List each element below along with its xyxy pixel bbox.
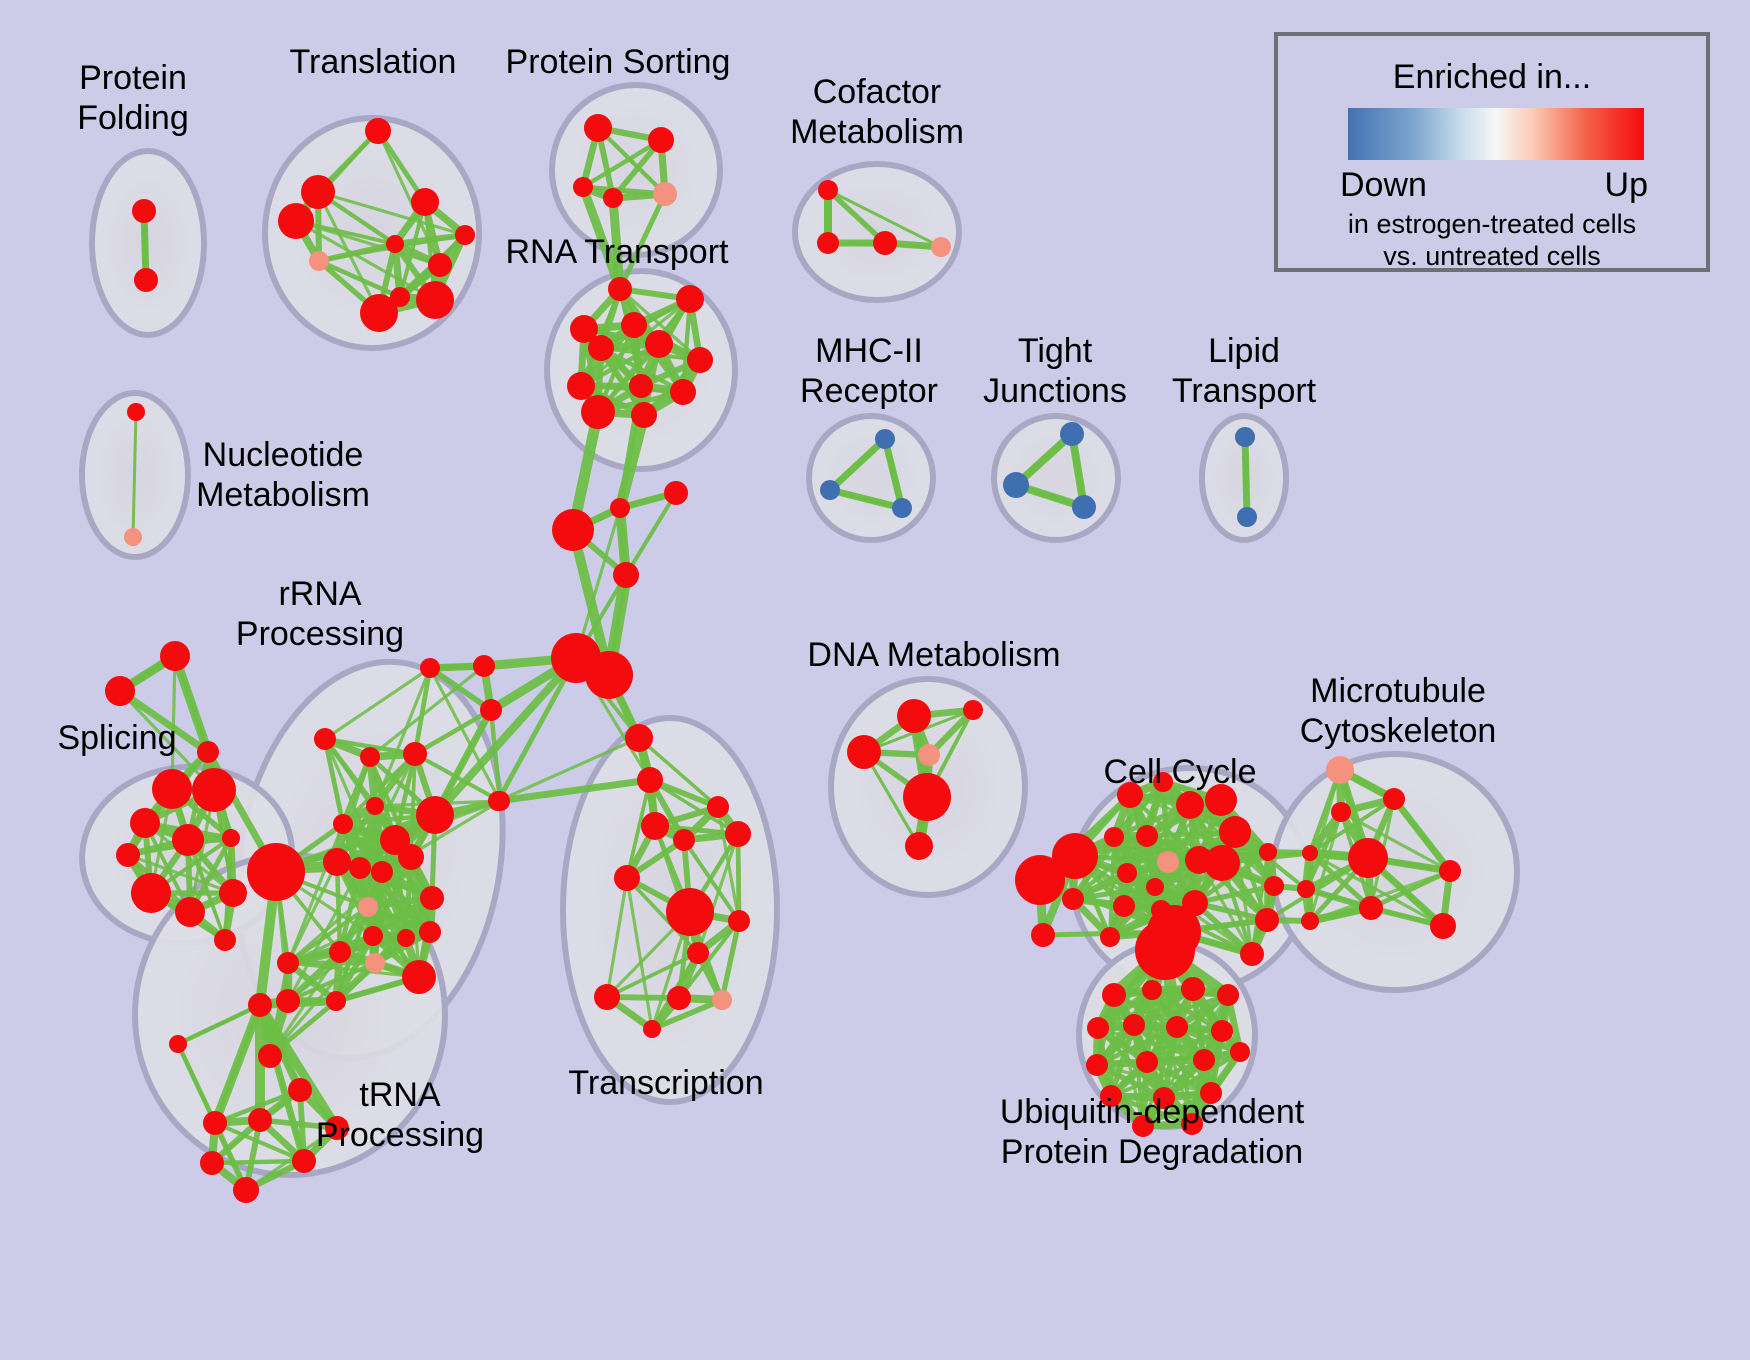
network-node: [248, 1108, 272, 1132]
network-node: [1301, 912, 1319, 930]
network-node: [131, 873, 171, 913]
network-node: [132, 199, 156, 223]
network-node: [931, 237, 951, 257]
network-node: [152, 769, 192, 809]
network-node: [365, 953, 385, 973]
network-node: [1157, 851, 1179, 873]
network-node: [276, 989, 300, 1013]
network-node: [219, 879, 247, 907]
network-node: [214, 929, 236, 951]
network-node: [1235, 427, 1255, 447]
network-node: [1135, 920, 1195, 980]
network-node: [1117, 863, 1137, 883]
network-node: [653, 182, 677, 206]
network-node: [329, 941, 351, 963]
network-node: [817, 232, 839, 254]
network-node: [687, 347, 713, 373]
network-node: [1217, 984, 1239, 1006]
network-node: [1117, 782, 1143, 808]
network-node: [818, 180, 838, 200]
network-node: [581, 395, 615, 429]
network-node: [420, 886, 444, 910]
network-node: [1153, 772, 1173, 792]
network-edge: [738, 834, 739, 921]
network-node: [160, 641, 190, 671]
network-node: [1086, 1054, 1108, 1076]
network-node: [1102, 983, 1126, 1007]
network-node: [648, 127, 674, 153]
network-node: [1230, 1042, 1250, 1062]
network-node: [192, 768, 236, 812]
legend-high-label: Up: [1605, 166, 1648, 205]
network-node: [314, 728, 336, 750]
network-node: [200, 1151, 224, 1175]
network-node: [277, 952, 299, 974]
network-node: [278, 203, 314, 239]
network-node: [124, 528, 142, 546]
network-node: [567, 372, 595, 400]
pathway-network-figure: ProteinFoldingTranslationProtein Sorting…: [0, 0, 1750, 1360]
network-node: [892, 498, 912, 518]
network-node: [1193, 1049, 1215, 1071]
network-node: [1003, 472, 1029, 498]
legend-low-label: Down: [1340, 166, 1427, 205]
network-node: [1211, 1020, 1233, 1042]
network-node: [585, 651, 633, 699]
network-node: [386, 235, 404, 253]
network-node: [645, 330, 673, 358]
network-node: [105, 676, 135, 706]
network-node: [420, 658, 440, 678]
network-node: [608, 277, 632, 301]
network-node: [1072, 495, 1096, 519]
network-node: [1176, 791, 1204, 819]
network-node: [897, 699, 931, 733]
network-node: [614, 865, 640, 891]
network-node: [1430, 913, 1456, 939]
network-node: [1113, 895, 1135, 917]
network-node: [625, 724, 653, 752]
network-node: [1136, 825, 1158, 847]
network-node: [326, 991, 346, 1011]
network-node: [288, 1078, 312, 1102]
network-node: [1123, 1014, 1145, 1036]
network-node: [1100, 1085, 1122, 1107]
network-node: [1142, 980, 1162, 1000]
network-node: [687, 942, 709, 964]
network-node: [247, 843, 305, 901]
network-node: [455, 225, 475, 245]
network-node: [1219, 816, 1251, 848]
network-node: [258, 1044, 282, 1068]
network-node: [1302, 845, 1318, 861]
network-node: [1205, 784, 1237, 816]
network-node: [588, 335, 614, 361]
network-node: [416, 281, 454, 319]
network-node: [1297, 880, 1315, 898]
network-node: [666, 888, 714, 936]
network-node: [1200, 1082, 1222, 1104]
network-node: [573, 177, 593, 197]
network-node: [1264, 876, 1284, 896]
network-node: [1031, 923, 1055, 947]
network-node: [222, 829, 240, 847]
network-node: [552, 509, 594, 551]
network-node: [673, 829, 695, 851]
network-node: [903, 773, 951, 821]
network-node: [428, 253, 452, 277]
legend-colorbar: [1348, 108, 1644, 160]
network-node: [248, 993, 272, 1017]
network-node: [360, 294, 398, 332]
network-node: [130, 808, 160, 838]
network-node: [1062, 888, 1084, 910]
network-node: [1100, 927, 1120, 947]
network-node: [1166, 1016, 1188, 1038]
network-node: [134, 268, 158, 292]
network-node: [333, 814, 353, 834]
network-node: [820, 480, 840, 500]
network-node: [360, 747, 380, 767]
network-node: [712, 990, 732, 1010]
network-node: [402, 960, 436, 994]
network-node: [233, 1177, 259, 1203]
network-node: [371, 861, 393, 883]
network-node: [629, 374, 653, 398]
network-node: [610, 498, 630, 518]
network-node: [116, 843, 140, 867]
network-node: [363, 926, 383, 946]
network-node: [728, 910, 750, 932]
network-node: [918, 744, 940, 766]
network-node: [172, 824, 204, 856]
network-node: [473, 655, 495, 677]
network-node: [1087, 1017, 1109, 1039]
legend-title: Enriched in...: [1278, 58, 1706, 97]
network-node: [667, 986, 691, 1010]
network-node: [584, 114, 612, 142]
network-node: [1104, 827, 1124, 847]
network-node: [349, 857, 371, 879]
network-node: [127, 403, 145, 421]
network-node: [1204, 845, 1240, 881]
network-node: [670, 379, 696, 405]
network-node: [1359, 896, 1383, 920]
network-node: [323, 848, 351, 876]
network-node: [488, 791, 508, 811]
network-node: [594, 984, 620, 1010]
network-edge: [212, 1161, 304, 1163]
network-node: [197, 741, 219, 763]
network-node: [1136, 1051, 1158, 1073]
network-node: [1259, 843, 1277, 861]
network-node: [643, 1020, 661, 1038]
network-node: [1240, 942, 1264, 966]
legend-caption: in estrogen-treated cells vs. untreated …: [1278, 208, 1706, 272]
network-node: [1237, 507, 1257, 527]
network-node: [621, 312, 647, 338]
network-node: [398, 844, 424, 870]
network-edge: [1245, 437, 1247, 517]
network-node: [1331, 802, 1351, 822]
network-node: [847, 735, 881, 769]
network-node: [358, 897, 378, 917]
network-node: [963, 700, 983, 720]
network-node: [1348, 838, 1388, 878]
network-node: [1132, 1115, 1154, 1137]
network-node: [397, 929, 415, 947]
network-node: [707, 796, 729, 818]
network-node: [637, 767, 663, 793]
network-node: [203, 1111, 227, 1135]
network-node: [365, 118, 391, 144]
network-node: [175, 897, 205, 927]
network-node: [411, 188, 439, 216]
network-node: [309, 251, 329, 271]
network-node: [676, 285, 704, 313]
network-node: [875, 429, 895, 449]
network-node: [1326, 756, 1354, 784]
legend-panel: Enriched in... Down Up in estrogen-treat…: [1274, 32, 1710, 272]
network-node: [169, 1035, 187, 1053]
network-node: [403, 742, 427, 766]
network-node: [1015, 855, 1065, 905]
network-node: [664, 481, 688, 505]
network-node: [480, 699, 502, 721]
network-node: [1181, 1113, 1203, 1135]
network-node: [1153, 1087, 1175, 1109]
network-node: [725, 821, 751, 847]
network-node: [631, 402, 657, 428]
network-node: [1383, 788, 1405, 810]
network-node: [366, 797, 384, 815]
network-node: [301, 175, 335, 209]
network-node: [905, 832, 933, 860]
network-node: [873, 231, 897, 255]
network-node: [1146, 878, 1164, 896]
cluster-ellipse-mhc-ii-receptor: [809, 416, 933, 540]
network-node: [1060, 422, 1084, 446]
network-node: [1181, 977, 1205, 1001]
network-node: [1255, 908, 1279, 932]
network-node: [419, 921, 441, 943]
network-node: [1439, 860, 1461, 882]
network-node: [416, 796, 454, 834]
network-node: [603, 188, 623, 208]
network-node: [292, 1149, 316, 1173]
network-node: [641, 812, 669, 840]
network-node: [613, 562, 639, 588]
network-node: [325, 1116, 349, 1140]
